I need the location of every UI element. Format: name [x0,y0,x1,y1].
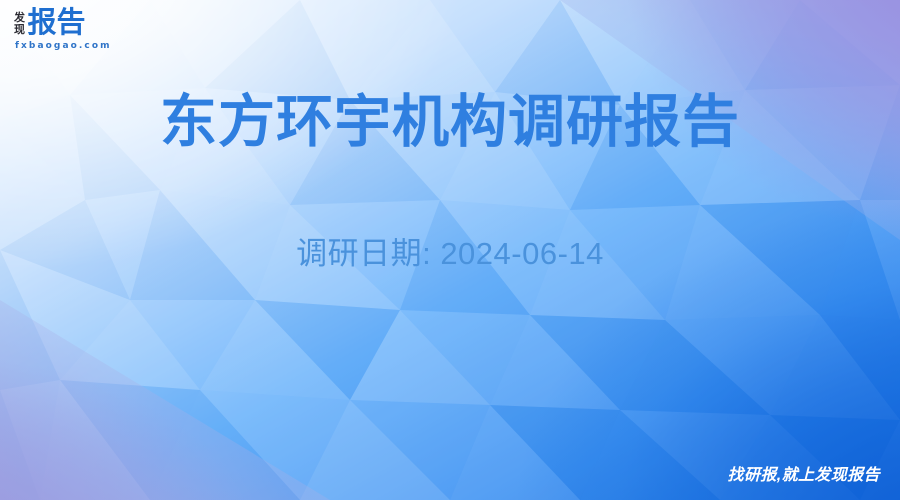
report-cover: 发 现 报告 fxbaogao.com 东方环宇机构调研报告 调研日期: 202… [0,0,900,500]
logo-url: fxbaogao.com [15,41,112,51]
page-title: 东方环宇机构调研报告 [0,89,900,155]
footer-tagline: 找研报,就上发现报告 [728,466,880,486]
site-logo[interactable]: 发 现 报告 fxbaogao.com [14,9,112,51]
logo-char-xian: 现 [14,24,25,36]
survey-date-subtitle: 调研日期: 2024-06-14 [0,234,900,274]
logo-wordmark: 发 现 报告 [14,9,86,38]
logo-stacked-chars: 发 现 [14,12,25,38]
logo-char-fa: 发 [14,12,25,24]
logo-main-text: 报告 [28,9,86,38]
